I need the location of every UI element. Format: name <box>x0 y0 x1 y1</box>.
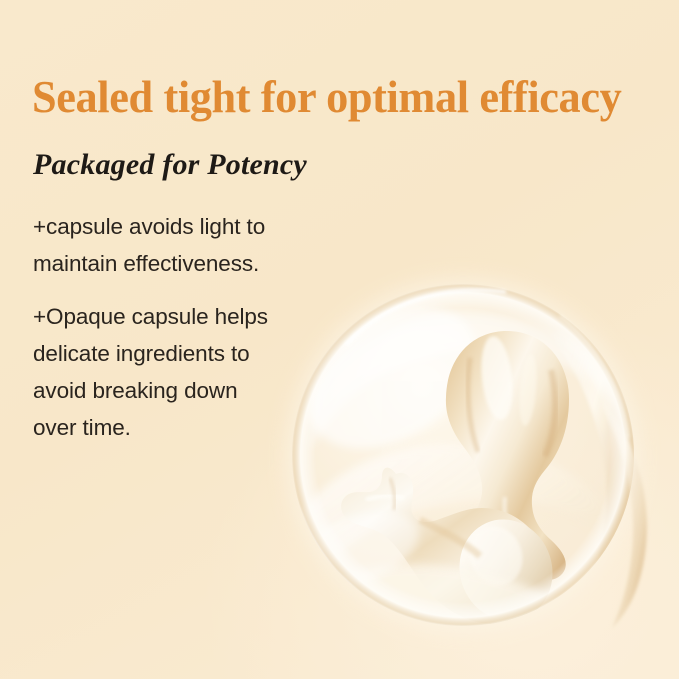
benefit-1-line-1: +capsule avoids light to <box>33 208 333 245</box>
text-content: Sealed tight for optimal efficacy Packag… <box>0 0 679 679</box>
benefit-paragraph-1: +capsule avoids light to maintain effect… <box>33 208 333 282</box>
benefit-2-line-1: +Opaque capsule helps <box>33 298 333 335</box>
page-title: Sealed tight for optimal efficacy <box>32 75 662 120</box>
benefit-2-line-2: delicate ingredients to <box>33 335 333 372</box>
infographic-panel: Sealed tight for optimal efficacy Packag… <box>0 0 679 679</box>
benefit-2-line-4: over time. <box>33 409 333 446</box>
benefit-1-line-2: maintain effectiveness. <box>33 245 333 282</box>
benefit-paragraph-2: +Opaque capsule helps delicate ingredien… <box>33 298 333 446</box>
benefit-2-line-3: avoid breaking down <box>33 372 333 409</box>
section-subtitle: Packaged for Potency <box>33 148 307 181</box>
